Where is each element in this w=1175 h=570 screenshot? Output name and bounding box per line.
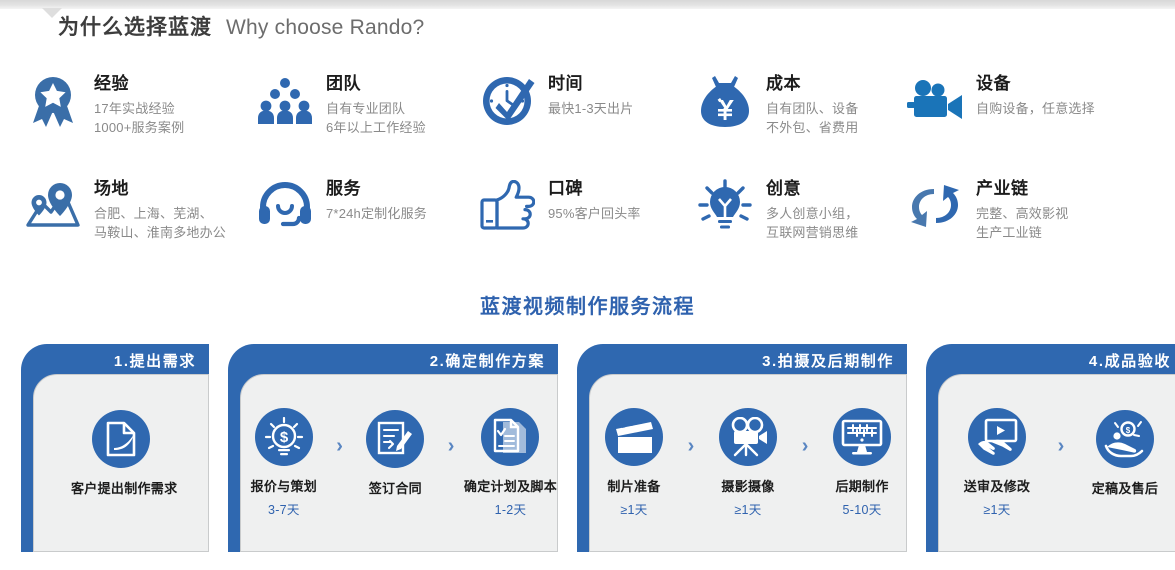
process-panel: 3.拍摄及后期制作 制片准备≥1天› 摄影摄像≥1天› 后期制作5-10天 <box>577 344 907 552</box>
step-arrow-icon: › <box>1053 435 1069 458</box>
page-title: 为什么选择蓝渡 Why choose Rando? <box>58 11 424 41</box>
thumbs-up-icon <box>478 177 536 235</box>
panel-body: 送审及修改≥1天› $ 定稿及售后 <box>938 374 1175 552</box>
process-step: 摄影摄像≥1天 <box>704 408 792 518</box>
document-pen-icon <box>92 410 150 468</box>
step-label: 确定计划及脚本 <box>464 476 557 495</box>
step-label: 报价与策划 <box>241 476 327 495</box>
feature-text: 经验17年实战经验1000+服务案例 <box>94 70 184 137</box>
panel-header-title: 1.提出需求 <box>114 350 196 371</box>
feature-title: 团队 <box>326 74 426 94</box>
feature-item: 口碑95%客户回头率 <box>478 175 696 270</box>
step-label: 送审及修改 <box>947 476 1047 495</box>
svg-text:$: $ <box>1126 426 1131 435</box>
panel-body: 客户提出制作需求 <box>33 374 209 552</box>
feature-description: 95%客户回头率 <box>548 205 641 223</box>
feature-description-line: 不外包、省费用 <box>766 119 858 137</box>
map-pin-icon <box>24 177 82 235</box>
feature-text: 创意多人创意小组，互联网营销思维 <box>766 175 858 242</box>
feature-item: 设备自购设备，任意选择 <box>906 70 1161 175</box>
feature-item: 成本自有团队、设备不外包、省费用 <box>696 70 906 175</box>
feature-title: 成本 <box>766 74 858 94</box>
step-label: 客户提出制作需求 <box>71 478 171 497</box>
step-label: 后期制作 <box>818 476 906 495</box>
feature-title: 产业链 <box>976 179 1068 199</box>
feature-item: 产业链完整、高效影视生产工业链 <box>906 175 1161 270</box>
video-camera-icon <box>906 72 964 130</box>
step-arrow-icon: › <box>798 435 812 458</box>
money-bag-icon <box>696 72 754 130</box>
feature-title: 经验 <box>94 74 184 94</box>
feature-item: 团队自有专业团队6年以上工作经验 <box>256 70 478 175</box>
page-root: 为什么选择蓝渡 Why choose Rando? 经验17年实战经验1000+… <box>0 0 1175 570</box>
process-step: 后期制作5-10天 <box>818 408 906 518</box>
feature-text: 场地合肥、上海、芜湖、马鞍山、淮南多地办公 <box>94 175 226 242</box>
panel-header-title: 2.确定制作方案 <box>430 350 545 371</box>
step-duration: 5-10天 <box>818 499 906 518</box>
process-panel: 2.确定制作方案 $ 报价与策划3-7天› 签订合同› 确定计划及脚本1-2天 <box>228 344 558 552</box>
process-step: 客户提出制作需求 <box>71 410 171 516</box>
feature-description-line: 生产工业链 <box>976 224 1068 242</box>
feature-text: 设备自购设备，任意选择 <box>976 70 1095 119</box>
process-panel: 4.成品验收 送审及修改≥1天› $ 定稿及售后 <box>926 344 1175 552</box>
step-label: 定稿及售后 <box>1075 478 1175 497</box>
medal-icon <box>24 72 82 130</box>
feature-title: 时间 <box>548 74 633 94</box>
script-docs-icon <box>481 408 539 466</box>
feature-text: 成本自有团队、设备不外包、省费用 <box>766 70 858 137</box>
feature-description-line: 互联网营销思维 <box>766 224 858 242</box>
feature-description: 自购设备，任意选择 <box>976 100 1095 118</box>
panel-body: 制片准备≥1天› 摄影摄像≥1天› 后期制作5-10天 <box>589 374 907 552</box>
feature-description-line: 自有专业团队 <box>326 100 426 118</box>
hand-gift-icon: $ <box>1096 410 1154 468</box>
process-step: 制片准备≥1天 <box>590 408 678 518</box>
lightbulb-icon <box>696 177 754 235</box>
feature-text: 产业链完整、高效影视生产工业链 <box>976 175 1068 242</box>
step-duration <box>352 501 438 516</box>
step-arrow-icon: › <box>333 435 347 458</box>
step-label: 签订合同 <box>352 478 438 497</box>
recycle-icon <box>906 177 964 235</box>
feature-description: 自有团队、设备不外包、省费用 <box>766 100 858 137</box>
feature-description: 自有专业团队6年以上工作经验 <box>326 100 426 137</box>
handshake-screen-icon <box>968 408 1026 466</box>
svg-text:$: $ <box>280 429 289 446</box>
feature-description-line: 自购设备，任意选择 <box>976 100 1095 118</box>
feature-description-line: 马鞍山、淮南多地办公 <box>94 224 226 242</box>
step-label: 摄影摄像 <box>704 476 792 495</box>
step-label: 制片准备 <box>590 476 678 495</box>
feature-description-line: 最快1-3天出片 <box>548 100 633 118</box>
feature-item: 场地合肥、上海、芜湖、马鞍山、淮南多地办公 <box>24 175 256 270</box>
step-duration: ≥1天 <box>947 499 1047 518</box>
feature-text: 服务7*24h定制化服务 <box>326 175 427 224</box>
team-icon <box>256 72 314 130</box>
clock-check-icon <box>478 72 536 130</box>
clapperboard-icon <box>605 408 663 466</box>
feature-description: 7*24h定制化服务 <box>326 205 427 223</box>
top-decorative-bar <box>0 0 1175 9</box>
feature-description-line: 7*24h定制化服务 <box>326 205 427 223</box>
step-duration <box>1075 501 1175 516</box>
step-arrow-icon: › <box>684 435 698 458</box>
step-duration <box>71 501 171 516</box>
feature-description: 多人创意小组，互联网营销思维 <box>766 205 858 242</box>
movie-camera-icon <box>719 408 777 466</box>
contract-sign-icon <box>366 410 424 468</box>
page-title-cn: 为什么选择蓝渡 <box>58 11 212 41</box>
monitor-edit-icon <box>833 408 891 466</box>
feature-description-line: 95%客户回头率 <box>548 205 641 223</box>
step-duration: ≥1天 <box>590 499 678 518</box>
feature-item: 时间最快1-3天出片 <box>478 70 696 175</box>
feature-description-line: 多人创意小组， <box>766 205 858 223</box>
step-arrow-icon: › <box>444 435 458 458</box>
process-panel: 1.提出需求 客户提出制作需求 <box>21 344 209 552</box>
feature-grid: 经验17年实战经验1000+服务案例 团队自有专业团队6年以上工作经验 时间最快… <box>24 70 1164 270</box>
feature-item: 创意多人创意小组，互联网营销思维 <box>696 175 906 270</box>
bulb-dollar-icon: $ <box>255 408 313 466</box>
feature-title: 口碑 <box>548 179 641 199</box>
feature-description-line: 合肥、上海、芜湖、 <box>94 205 226 223</box>
feature-title: 服务 <box>326 179 427 199</box>
panel-header-title: 4.成品验收 <box>1089 350 1171 371</box>
feature-description: 最快1-3天出片 <box>548 100 633 118</box>
process-flow-panels: 1.提出需求 客户提出制作需求2.确定制作方案 $ 报价与策划3-7天› 签订合… <box>21 344 1175 552</box>
step-duration: 1-2天 <box>464 499 557 518</box>
feature-text: 团队自有专业团队6年以上工作经验 <box>326 70 426 137</box>
process-step: 送审及修改≥1天 <box>947 408 1047 518</box>
feature-description-line: 6年以上工作经验 <box>326 119 426 137</box>
feature-title: 场地 <box>94 179 226 199</box>
process-step: $ 报价与策划3-7天 <box>241 408 327 518</box>
feature-item: 经验17年实战经验1000+服务案例 <box>24 70 256 175</box>
feature-description: 完整、高效影视生产工业链 <box>976 205 1068 242</box>
step-duration: 3-7天 <box>241 499 327 518</box>
process-step: 签订合同 <box>352 410 438 516</box>
feature-title: 创意 <box>766 179 858 199</box>
feature-description-line: 自有团队、设备 <box>766 100 858 118</box>
feature-item: 服务7*24h定制化服务 <box>256 175 478 270</box>
flow-section-title: 蓝渡视频制作服务流程 <box>0 290 1175 319</box>
page-title-en: Why choose Rando? <box>226 16 424 40</box>
feature-description: 合肥、上海、芜湖、马鞍山、淮南多地办公 <box>94 205 226 242</box>
feature-title: 设备 <box>976 74 1095 94</box>
feature-text: 口碑95%客户回头率 <box>548 175 641 224</box>
step-duration: ≥1天 <box>704 499 792 518</box>
feature-description-line: 1000+服务案例 <box>94 119 184 137</box>
feature-description-line: 17年实战经验 <box>94 100 184 118</box>
headset-icon <box>256 177 314 235</box>
panel-header-title: 3.拍摄及后期制作 <box>762 350 894 371</box>
feature-text: 时间最快1-3天出片 <box>548 70 633 119</box>
panel-body: $ 报价与策划3-7天› 签订合同› 确定计划及脚本1-2天 <box>240 374 558 552</box>
process-step: 确定计划及脚本1-2天 <box>464 408 557 518</box>
feature-description-line: 完整、高效影视 <box>976 205 1068 223</box>
process-step: $ 定稿及售后 <box>1075 410 1175 516</box>
feature-description: 17年实战经验1000+服务案例 <box>94 100 184 137</box>
